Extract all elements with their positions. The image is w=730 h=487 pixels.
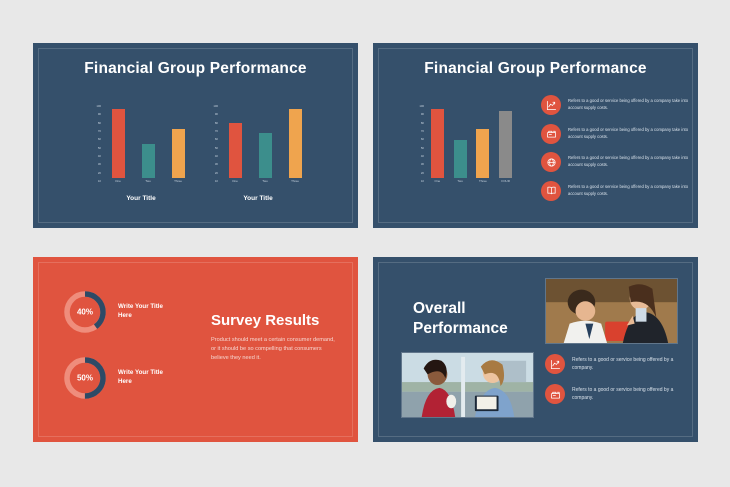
photo-meeting-art xyxy=(546,279,677,343)
bar-item: Three xyxy=(472,105,495,183)
bar-label: Two xyxy=(262,180,268,183)
bar xyxy=(112,109,125,178)
y-tick: 100 xyxy=(419,105,424,108)
bar-group: One Two Three FOUR xyxy=(426,105,517,183)
y-tick: 40 xyxy=(421,155,424,158)
bar-item: Two xyxy=(250,105,280,183)
photo-women xyxy=(401,352,534,418)
survey-body: Product should meet a certain consumer d… xyxy=(211,336,339,363)
feature-list: Refers to a good or service being offere… xyxy=(541,95,689,209)
y-tick: 20 xyxy=(215,172,218,175)
feature-text: Refers to a good or service being offere… xyxy=(568,155,689,169)
y-tick: 50 xyxy=(215,147,218,150)
slide4-title: Overall Performance xyxy=(413,299,563,339)
y-tick: 80 xyxy=(215,122,218,125)
y-tick: 80 xyxy=(98,122,101,125)
bar xyxy=(229,123,242,178)
photo-meeting xyxy=(545,278,678,344)
y-tick: 10 xyxy=(215,180,218,183)
bar-label: Two xyxy=(457,180,463,183)
y-axis-ticks: 100 90 80 70 60 50 40 30 20 10 xyxy=(205,105,218,183)
y-tick: 70 xyxy=(421,130,424,133)
donut-label: Write Your Title Here xyxy=(118,303,178,321)
y-tick: 40 xyxy=(98,155,101,158)
bar-group: One Two Three xyxy=(103,105,193,183)
bar-chart-four-series: 100 90 80 70 60 50 40 30 20 10 One Two xyxy=(411,105,517,183)
y-tick: 90 xyxy=(98,113,101,116)
y-tick: 90 xyxy=(215,113,218,116)
open-book-icon xyxy=(541,181,561,201)
bar xyxy=(454,140,467,178)
chart-caption-right: Your Title xyxy=(198,195,318,202)
feature-item[interactable]: Refers to a good or service being offere… xyxy=(541,181,689,201)
bar xyxy=(259,133,272,178)
feature-item[interactable]: Refers to a good or service being offere… xyxy=(541,124,689,144)
bar-item: FOUR xyxy=(494,105,517,183)
bar xyxy=(289,109,302,178)
bar-chart-left: 100 90 80 70 60 50 40 30 20 10 One Two xyxy=(88,105,193,183)
feature-item[interactable]: Refers to a good or service being offere… xyxy=(541,95,689,115)
bar-label: Three xyxy=(174,180,182,183)
survey-title: Survey Results xyxy=(211,312,339,329)
donut-label: Write Your Title Here xyxy=(118,369,178,387)
y-tick: 90 xyxy=(421,113,424,116)
bar-group: One Two Three xyxy=(220,105,310,183)
slide-financial-group-performance-1[interactable]: Financial Group Performance 100 90 80 70… xyxy=(33,43,358,228)
bar-item: Three xyxy=(163,105,193,183)
slide-overall-performance[interactable]: Overall Performance xyxy=(373,257,698,442)
y-tick: 60 xyxy=(421,138,424,141)
bar xyxy=(172,129,185,178)
donut-percent: 40% xyxy=(62,308,108,317)
chart-caption-left: Your Title xyxy=(81,195,201,202)
donut-chart-50: 50% xyxy=(62,355,108,401)
bar-label: Three xyxy=(479,180,487,183)
y-tick: 70 xyxy=(98,130,101,133)
slide1-title: Financial Group Performance xyxy=(33,60,358,78)
y-tick: 60 xyxy=(98,138,101,141)
bar-item: Two xyxy=(449,105,472,183)
y-tick: 20 xyxy=(98,172,101,175)
feature-list: Refers to a good or service being offere… xyxy=(545,354,685,414)
y-tick: 60 xyxy=(215,138,218,141)
bar-item: One xyxy=(103,105,133,183)
y-tick: 10 xyxy=(98,180,101,183)
donut-item: 50% Write Your Title Here xyxy=(62,355,178,401)
bar-item: Two xyxy=(133,105,163,183)
bar xyxy=(476,129,489,178)
slide-deck-preview: Financial Group Performance 100 90 80 70… xyxy=(0,0,730,487)
y-tick: 10 xyxy=(421,180,424,183)
feature-text: Refers to a good or service being offere… xyxy=(572,356,685,372)
slide-survey-results[interactable]: 40% Write Your Title Here 50% Write Your… xyxy=(33,257,358,442)
photo-women-art xyxy=(402,353,533,417)
y-tick: 20 xyxy=(421,172,424,175)
bar-label: One xyxy=(115,180,121,183)
bar-label: Three xyxy=(291,180,299,183)
bar xyxy=(499,111,512,178)
feature-text: Refers to a good or service being offere… xyxy=(572,386,685,402)
slide2-title: Financial Group Performance xyxy=(373,60,698,78)
bar-label: Two xyxy=(145,180,151,183)
y-tick: 100 xyxy=(213,105,218,108)
line-chart-icon xyxy=(541,95,561,115)
feature-item[interactable]: Refers to a good or service being offere… xyxy=(545,354,685,374)
cash-register-icon xyxy=(545,384,565,404)
y-tick: 50 xyxy=(98,147,101,150)
bar-label: One xyxy=(435,180,441,183)
y-tick: 100 xyxy=(96,105,101,108)
bar-label: FOUR xyxy=(501,180,510,183)
slide-financial-group-performance-2[interactable]: Financial Group Performance 100 90 80 70… xyxy=(373,43,698,228)
feature-text: Refers to a good or service being offere… xyxy=(568,127,689,141)
y-tick: 70 xyxy=(215,130,218,133)
bar-item: One xyxy=(220,105,250,183)
y-tick: 30 xyxy=(98,163,101,166)
feature-item[interactable]: Refers to a good or service being offere… xyxy=(545,384,685,404)
donut-percent: 50% xyxy=(62,374,108,383)
bar xyxy=(431,109,444,178)
feature-item[interactable]: Refers to a good or service being offere… xyxy=(541,152,689,172)
bar-item: One xyxy=(426,105,449,183)
y-tick: 80 xyxy=(421,122,424,125)
survey-text-block: Survey Results Product should meet a cer… xyxy=(211,312,339,363)
bar-chart-right: 100 90 80 70 60 50 40 30 20 10 One Two xyxy=(205,105,310,183)
feature-text: Refers to a good or service being offere… xyxy=(568,98,689,112)
y-axis-ticks: 100 90 80 70 60 50 40 30 20 10 xyxy=(88,105,101,183)
y-tick: 30 xyxy=(215,163,218,166)
globe-icon xyxy=(541,152,561,172)
donut-item: 40% Write Your Title Here xyxy=(62,289,178,335)
bar-item: Three xyxy=(280,105,310,183)
y-tick: 50 xyxy=(421,147,424,150)
donut-chart-40: 40% xyxy=(62,289,108,335)
bar-label: One xyxy=(232,180,238,183)
y-axis-ticks: 100 90 80 70 60 50 40 30 20 10 xyxy=(411,105,424,183)
line-chart-icon xyxy=(545,354,565,374)
cash-register-icon xyxy=(541,124,561,144)
y-tick: 40 xyxy=(215,155,218,158)
feature-text: Refers to a good or service being offere… xyxy=(568,184,689,198)
y-tick: 30 xyxy=(421,163,424,166)
bar xyxy=(142,144,155,178)
